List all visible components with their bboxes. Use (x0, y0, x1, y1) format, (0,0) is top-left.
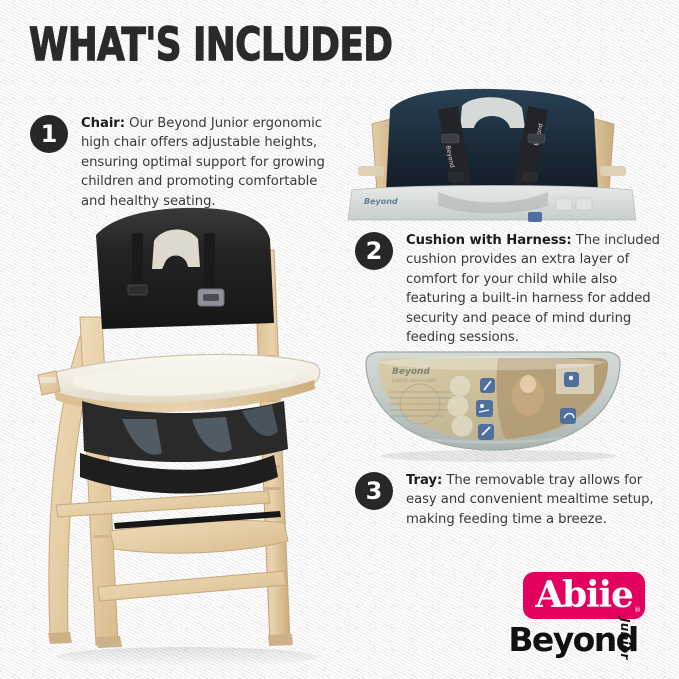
registered-trademark-icon: ® (634, 606, 641, 614)
step-item-chair: 1 Chair: Our Beyond Junior ergonomic hig… (30, 114, 340, 211)
logo-product-suffix-text: Junior (618, 618, 632, 660)
step-text-2: Cushion with Harness: The included cushi… (406, 231, 660, 347)
step-description-2: The included cushion provides an extra l… (406, 233, 660, 345)
step-item-tray: 3 Tray: The removable tray allows for ea… (355, 471, 655, 529)
step-item-cushion: 2 Cushion with Harness: The included cus… (355, 231, 660, 347)
high-chair-illustration (22, 205, 342, 665)
tray-photo: Beyond JUNIOR HIGH CHAIR (348, 348, 638, 463)
svg-text:Beyond: Beyond (392, 367, 430, 377)
step-lead-2: Cushion with Harness: (406, 233, 572, 248)
logo-badge-background: Abiie ® (523, 572, 645, 619)
step-lead-1: Chair: (81, 116, 125, 131)
step-badge-3: 3 (355, 472, 393, 510)
step-lead-3: Tray: (406, 473, 442, 488)
svg-text:JUNIOR HIGH CHAIR: JUNIOR HIGH CHAIR (391, 378, 436, 384)
infographic-canvas: WHAT'S INCLUDED 1 Chair: Our Beyond Juni… (0, 0, 679, 679)
cushion-with-harness-photo: Beyond Beyond Beyond (342, 88, 642, 223)
svg-text:Beyond: Beyond (364, 197, 398, 206)
logo-brand-text: Abiie (523, 572, 645, 619)
step-description-3: The removable tray allows for easy and c… (406, 473, 654, 527)
page-title: WHAT'S INCLUDED (29, 22, 393, 67)
high-chair-photo (22, 205, 342, 665)
step-text-1: Chair: Our Beyond Junior ergonomic high … (81, 114, 340, 211)
step-badge-1: 1 (30, 115, 68, 153)
cushion-illustration: Beyond Beyond Beyond (342, 88, 642, 223)
step-text-3: Tray: The removable tray allows for easy… (406, 471, 655, 529)
tray-illustration: Beyond JUNIOR HIGH CHAIR (348, 348, 638, 463)
brand-logo: Abiie ® Beyond Junior (508, 572, 658, 664)
step-badge-2: 2 (355, 232, 393, 270)
